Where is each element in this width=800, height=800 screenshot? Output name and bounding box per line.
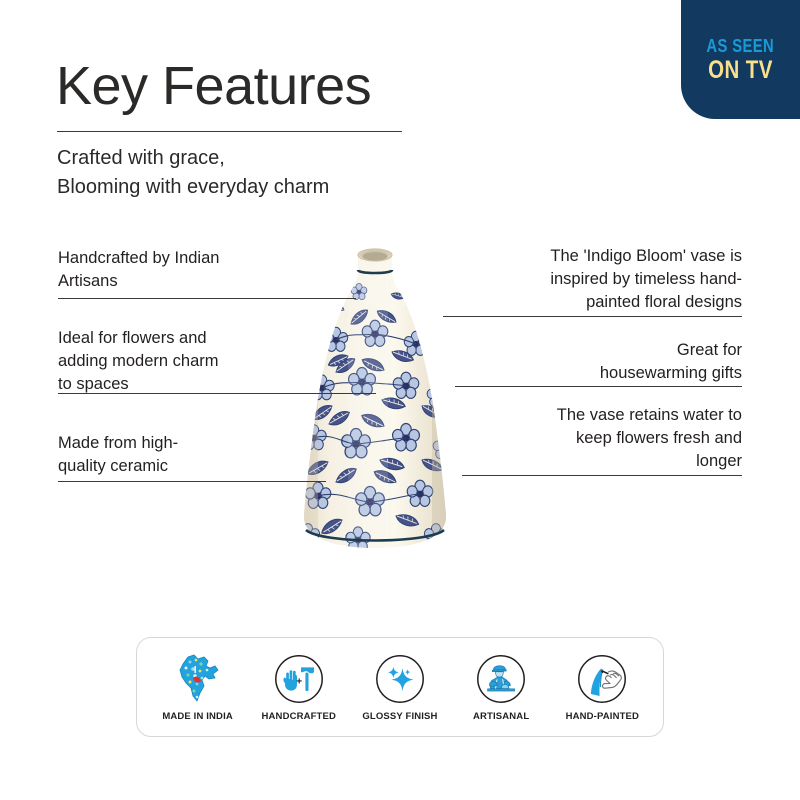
page-title: Key Features: [56, 58, 371, 115]
feature-right-1: The 'Indigo Bloom' vase is inspired by t…: [442, 245, 742, 313]
trust-badge-strip: MADE IN INDIA + HANDCRAFTED: [136, 637, 664, 737]
trust-badge-hand-painted: HAND-PAINTED: [552, 652, 652, 722]
as-seen-on-tv-badge: AS SEEN ON TV: [681, 0, 800, 119]
feature-left-1: Handcrafted by Indian Artisans: [58, 247, 358, 293]
feature-right-divider-1: [443, 316, 742, 317]
page-subtitle: Crafted with grace, Blooming with everyd…: [57, 144, 329, 202]
as-seen-on-tv-line2: ON TV: [708, 58, 773, 83]
product-image-vase: [296, 248, 456, 560]
svg-text:+: +: [296, 676, 302, 687]
trust-badge-made-in-india: MADE IN INDIA: [148, 652, 248, 722]
vase-illustration: [296, 248, 456, 560]
india-map-icon: [174, 652, 222, 706]
trust-badge-artisanal: ARTISANAL: [451, 652, 551, 722]
trust-badge-label: ARTISANAL: [473, 711, 529, 722]
trust-badge-handcrafted: + HANDCRAFTED: [249, 652, 349, 722]
feature-right-divider-2: [455, 386, 742, 387]
trust-badge-label: MADE IN INDIA: [162, 711, 233, 722]
feature-right-divider-3: [462, 475, 742, 476]
feature-left-divider-2: [58, 393, 376, 394]
feature-left-divider-3: [58, 481, 326, 482]
trust-badge-label: HANDCRAFTED: [262, 711, 336, 722]
artisan-icon: [476, 652, 526, 706]
hand-hammer-icon: +: [274, 652, 324, 706]
feature-left-divider-1: [58, 298, 356, 299]
paint-brush-hand-icon: [577, 652, 627, 706]
trust-badge-label: HAND-PAINTED: [566, 711, 639, 722]
feature-left-2: Ideal for flowers and adding modern char…: [58, 327, 358, 395]
sparkle-icon: [375, 652, 425, 706]
trust-badge-glossy-finish: GLOSSY FINISH: [350, 652, 450, 722]
feature-left-3: Made from high- quality ceramic: [58, 432, 358, 478]
feature-right-3: The vase retains water to keep flowers f…: [442, 404, 742, 472]
trust-badge-label: GLOSSY FINISH: [362, 711, 437, 722]
as-seen-on-tv-line1: AS SEEN: [707, 37, 775, 55]
title-underline: [57, 131, 402, 132]
feature-right-2: Great for housewarming gifts: [442, 339, 742, 385]
